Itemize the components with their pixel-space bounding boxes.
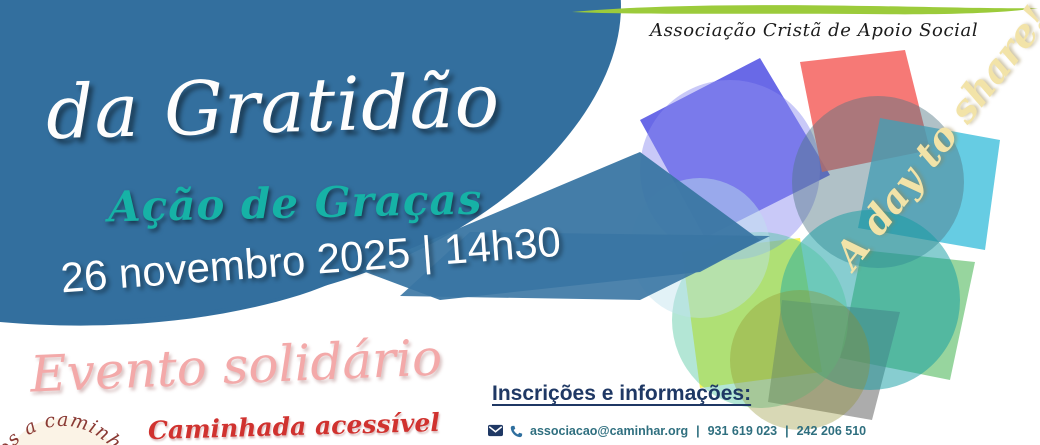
contact-email[interactable]: associacao@caminhar.org	[530, 423, 688, 439]
circle-olive	[730, 290, 870, 430]
badge-text-path: -nos a caminha	[0, 409, 135, 445]
contact-details: associacao@caminhar.org | 931 619 023 | …	[488, 423, 866, 439]
brand-name: Associação Cristã de Apoio Social	[650, 20, 978, 42]
green-brush-stroke-icon	[570, 2, 1040, 18]
contact-heading: Inscrições e informações:	[492, 381, 751, 407]
svg-text:-nos a caminha: -nos a caminha	[0, 409, 135, 445]
contact-separator-2: |	[783, 423, 791, 439]
page-title: da Gratidão	[45, 51, 568, 165]
badge-curved-text: -nos a caminha	[0, 396, 142, 445]
poster-canvas: Associação Cristã de Apoio Social da Gra…	[0, 0, 1040, 445]
phone-icon	[509, 424, 524, 439]
contact-phone-2[interactable]: 242 206 510	[797, 423, 867, 439]
walk-badge: -nos a caminha	[0, 396, 142, 445]
envelope-icon	[488, 424, 503, 439]
contact-phone-1[interactable]: 931 619 023	[708, 423, 778, 439]
contact-separator-1: |	[694, 423, 702, 439]
